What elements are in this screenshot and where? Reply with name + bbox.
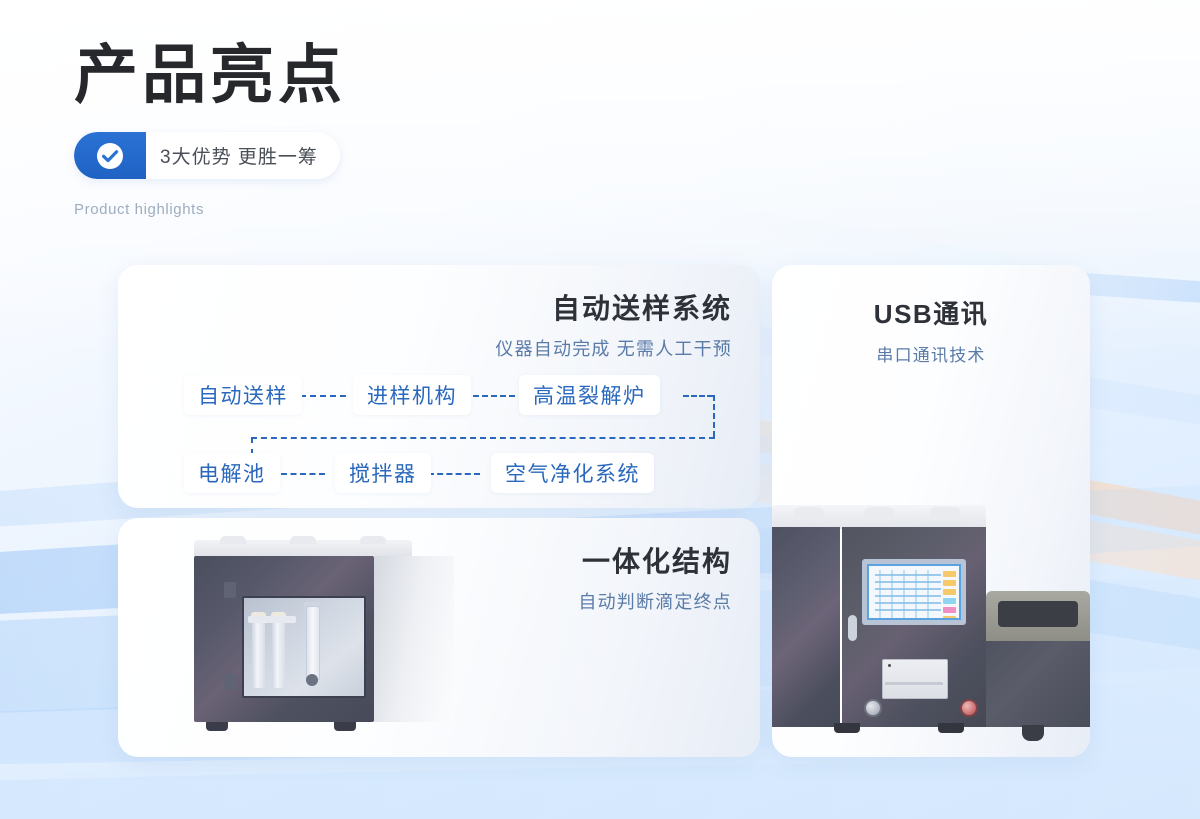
cards-grid: 自动送样系统 仪器自动完成 无需人工干预 自动送样 进样机构 高温裂解炉 电解池… <box>118 265 1090 757</box>
flow-tag-injection-mechanism[interactable]: 进样机构 <box>353 375 471 415</box>
flow-tag-auto-feed[interactable]: 自动送样 <box>184 375 302 415</box>
advantage-badge: 3大优势 更胜一筹 <box>74 132 340 179</box>
instrument-left-panel <box>772 527 840 727</box>
lcd-screen-content <box>867 564 961 620</box>
instrument-sample-tray <box>986 591 1090 643</box>
check-circle-icon <box>74 132 146 179</box>
process-flow-diagram: 自动送样 进样机构 高温裂解炉 电解池 搅拌器 空气净化系统 <box>184 375 729 490</box>
instrument-foot <box>834 723 860 733</box>
card-title: USB通讯 <box>772 298 1090 331</box>
page-header: 产品亮点 3大优势 更胜一筹 Product highlights <box>74 44 346 218</box>
card-auto-sampling-head: 自动送样系统 仪器自动完成 无需人工干预 <box>495 291 732 361</box>
flow-tag-stirrer[interactable]: 搅拌器 <box>335 453 431 493</box>
instrument-side-view-photo <box>154 534 454 746</box>
instrument-right-module <box>986 641 1090 727</box>
instrument-viewing-window <box>242 596 366 698</box>
flow-connector <box>251 437 715 439</box>
instrument-foot <box>938 723 964 733</box>
instrument-lcd-screen <box>862 559 966 625</box>
card-usb-communication[interactable]: USB通讯 串口通讯技术 <box>772 265 1090 757</box>
card-usb-communication-head: USB通讯 串口通讯技术 <box>772 265 1090 366</box>
card-subtitle: 串口通讯技术 <box>772 341 1090 366</box>
page-subtitle-english: Product highlights <box>74 201 346 218</box>
instrument-knob-red <box>960 699 978 717</box>
instrument-foot <box>334 722 356 731</box>
card-subtitle: 仪器自动完成 无需人工干预 <box>495 335 732 361</box>
instrument-flowmeter <box>306 606 320 680</box>
card-integrated-structure[interactable]: 一体化结构 自动判断滴定终点 <box>118 518 760 757</box>
card-title: 自动送样系统 <box>495 291 732 326</box>
instrument-flowmeter-valve <box>306 674 318 686</box>
card-title: 一体化结构 <box>578 544 732 579</box>
flow-connector <box>428 473 480 475</box>
flow-tag-air-purification[interactable]: 空气净化系统 <box>491 453 654 493</box>
badge-label: 3大优势 更胜一筹 <box>146 132 340 179</box>
card-integrated-structure-head: 一体化结构 自动判断滴定终点 <box>578 544 732 614</box>
instrument-top-cover <box>772 505 986 529</box>
instrument-knob-gray <box>864 699 882 717</box>
flow-connector <box>713 395 715 437</box>
instrument-door-handle <box>848 615 857 641</box>
page-title: 产品亮点 <box>74 44 346 108</box>
flow-connector <box>473 395 515 397</box>
instrument-side-panel <box>374 556 454 722</box>
instrument-printer-panel <box>882 659 948 699</box>
flow-connector <box>281 473 325 475</box>
card-subtitle: 自动判断滴定终点 <box>578 588 732 614</box>
instrument-foot <box>1022 725 1044 741</box>
instrument-syringe-bracket <box>248 616 296 623</box>
card-auto-sampling[interactable]: 自动送样系统 仪器自动完成 无需人工干预 自动送样 进样机构 高温裂解炉 电解池… <box>118 265 760 508</box>
instrument-foot <box>206 722 228 731</box>
instrument-front-view-photo <box>772 495 1090 757</box>
flow-connector <box>300 395 346 397</box>
flow-tag-electrolytic-cell[interactable]: 电解池 <box>184 453 280 493</box>
flow-connector <box>683 395 713 397</box>
flow-tag-pyrolysis-furnace[interactable]: 高温裂解炉 <box>519 375 660 415</box>
